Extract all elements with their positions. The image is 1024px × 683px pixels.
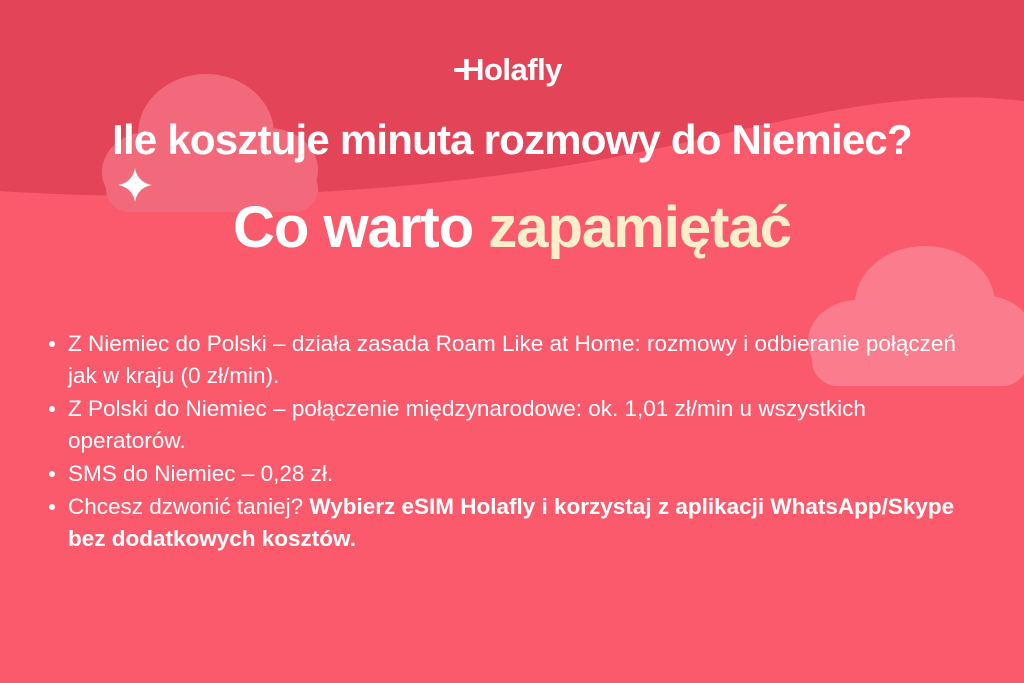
list-item: Z Polski do Niemiec – połączenie międzyn… (40, 393, 965, 457)
infographic-canvas: Holafly Ile kosztuje minuta rozmowy do N… (0, 0, 1024, 683)
list-item-text: SMS do Niemiec – 0,28 zł. (68, 461, 333, 486)
bullet-dot-icon (49, 406, 55, 412)
subtitle-part-two: zapamiętać (488, 195, 791, 260)
list-item: Z Niemiec do Polski – działa zasada Roam… (40, 328, 965, 392)
brand-logo: Holafly (0, 54, 1024, 85)
page-subtitle: Co warto zapamiętać (0, 197, 1024, 260)
key-points-list: Z Niemiec do Polski – działa zasada Roam… (40, 328, 965, 556)
list-item-text: Z Niemiec do Polski – działa zasada Roam… (68, 331, 956, 388)
list-item: SMS do Niemiec – 0,28 zł. (40, 458, 965, 490)
bullet-dot-icon (49, 471, 55, 477)
logo-text: Holafly (462, 54, 562, 85)
page-title: Ile kosztuje minuta rozmowy do Niemiec? (0, 117, 1024, 162)
list-item-text: Chcesz dzwonić taniej? (68, 494, 309, 519)
bullet-dot-icon (49, 341, 55, 347)
bullet-dot-icon (49, 504, 55, 510)
subtitle-part-one: Co warto (233, 195, 488, 260)
list-item: Chcesz dzwonić taniej? Wybierz eSIM Hola… (40, 491, 965, 555)
list-item-text: Z Polski do Niemiec – połączenie międzyn… (68, 396, 866, 453)
